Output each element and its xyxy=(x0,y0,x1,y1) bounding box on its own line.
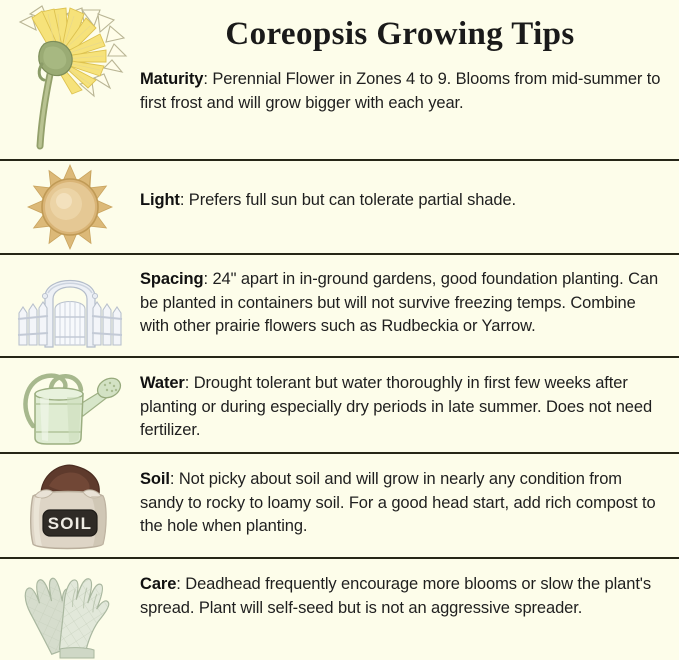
maturity-label: Maturity xyxy=(140,70,203,88)
water-label: Water xyxy=(140,374,185,392)
light-text: Light: Prefers full sun but can tolerate… xyxy=(140,189,664,213)
garden-gloves-icon xyxy=(16,565,124,660)
soil-body: Not picky about soil and will grow in ne… xyxy=(140,470,656,535)
soil-bag-label: SOIL xyxy=(48,514,92,533)
gate-icon-cell xyxy=(0,261,140,353)
sun-icon-cell xyxy=(0,163,140,251)
section-water: Water: Drought tolerant but water thorou… xyxy=(0,358,679,452)
watering-can-icon-cell xyxy=(0,364,140,450)
care-body: Deadhead frequently encourage more bloom… xyxy=(140,575,651,617)
growing-tips-infographic: Coreopsis Growing Tips xyxy=(0,0,679,660)
water-text: Water: Drought tolerant but water thorou… xyxy=(140,372,664,443)
yellow-flower-icon xyxy=(8,4,132,156)
care-text: Care: Deadhead frequently encourage more… xyxy=(140,573,664,620)
section-soil: SOIL Soil: Not picky about soil and will… xyxy=(0,454,679,557)
soil-bag-icon: SOIL xyxy=(17,460,123,555)
watering-can-icon xyxy=(11,364,129,450)
flower-icon-cell xyxy=(0,4,140,154)
section-spacing: Spacing: 24" apart in in-ground gardens,… xyxy=(0,255,679,356)
light-body: Prefers full sun but can tolerate partia… xyxy=(184,191,516,209)
gloves-icon-cell xyxy=(0,565,140,660)
section-maturity: Maturity: Perennial Flower in Zones 4 to… xyxy=(0,0,679,159)
water-body: Drought tolerant but water thoroughly in… xyxy=(140,374,652,439)
garden-gate-fence-icon xyxy=(15,261,125,353)
soil-label: Soil xyxy=(140,470,170,488)
light-label: Light xyxy=(140,191,180,209)
section-care: Care: Deadhead frequently encourage more… xyxy=(0,559,679,660)
soil-text: Soil: Not picky about soil and will grow… xyxy=(140,468,664,539)
spacing-body: 24" apart in in-ground gardens, good fou… xyxy=(140,270,658,335)
maturity-body: Perennial Flower in Zones 4 to 9. Blooms… xyxy=(140,70,660,112)
spacing-text: Spacing: 24" apart in in-ground gardens,… xyxy=(140,268,664,339)
section-light: Light: Prefers full sun but can tolerate… xyxy=(0,161,679,253)
spacing-label: Spacing xyxy=(140,270,203,288)
soil-bag-icon-cell: SOIL xyxy=(0,460,140,555)
maturity-text: Maturity: Perennial Flower in Zones 4 to… xyxy=(140,68,664,115)
care-label: Care xyxy=(140,575,176,593)
sun-icon xyxy=(18,163,122,251)
